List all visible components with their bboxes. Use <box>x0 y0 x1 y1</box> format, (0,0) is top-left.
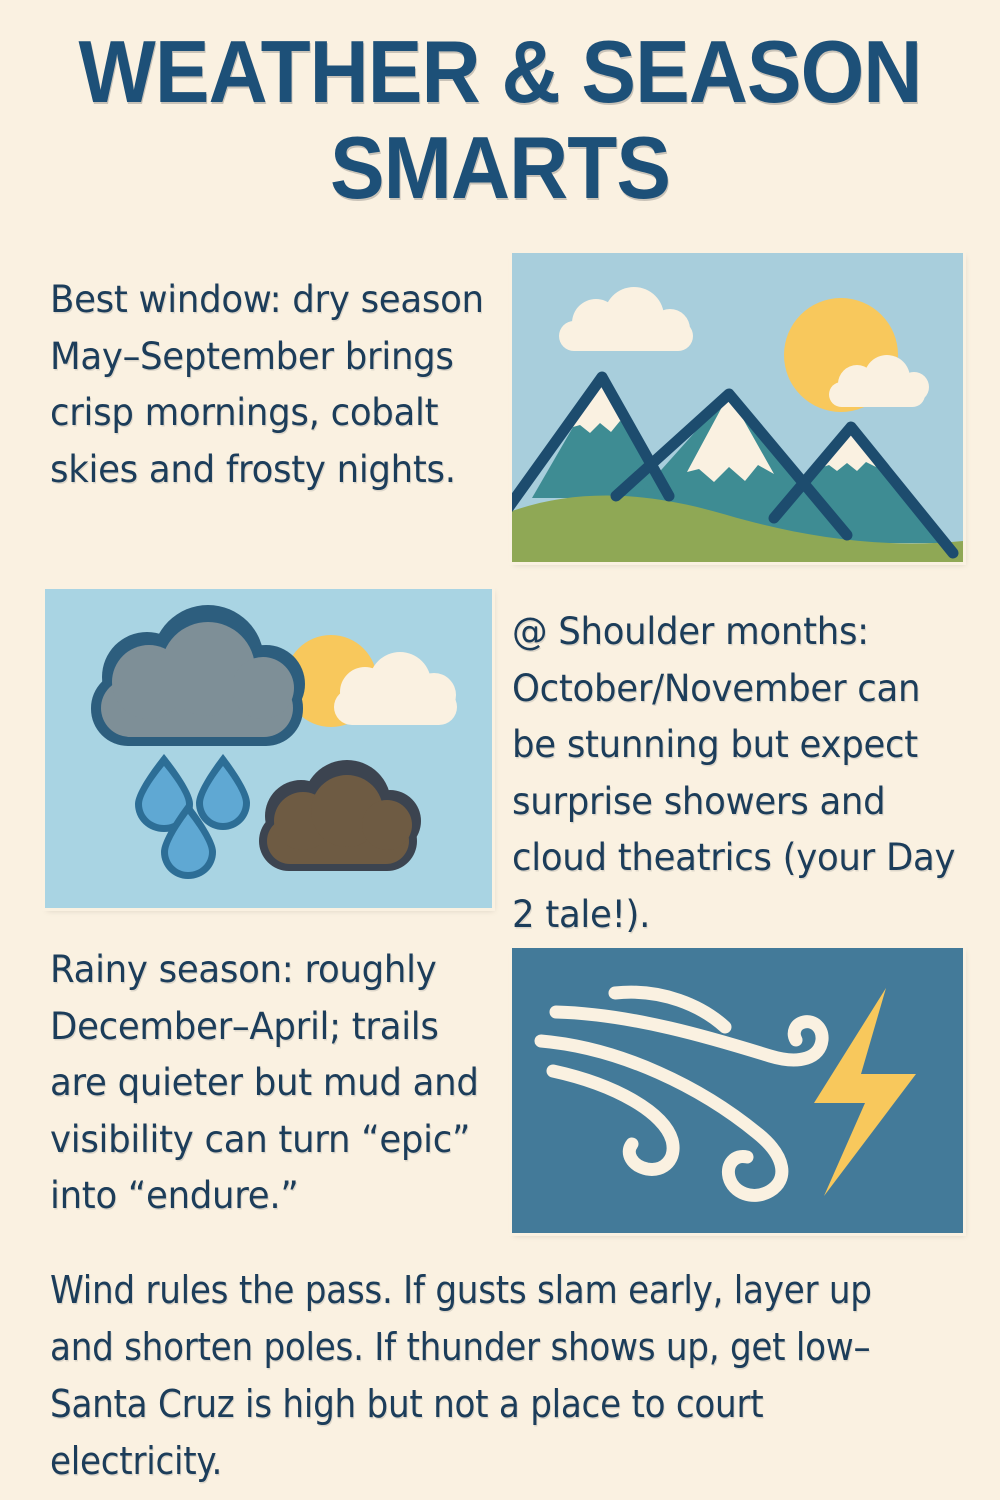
page-title-line-1: WEATHER & SEASON <box>35 24 965 120</box>
text-block-rainy-season: Rainy season: roughly December–April; tr… <box>50 942 492 1225</box>
text-block-best-window: Best window: dry season May–September br… <box>50 272 501 498</box>
illustration-rain-scene <box>45 589 492 908</box>
page-title-line-2: SMARTS <box>35 120 965 216</box>
illustration-wind-scene <box>512 948 963 1233</box>
text-block-shoulder-months: @ Shoulder months: October/November can … <box>512 604 963 943</box>
poster-canvas: WEATHER & SEASON SMARTS Best window: dry… <box>0 0 1000 1500</box>
page-title: WEATHER & SEASON SMARTS <box>0 24 1000 216</box>
text-block-wind-advice: Wind rules the pass. If gusts slam early… <box>50 1262 887 1490</box>
illustration-mountain-scene <box>512 253 963 562</box>
